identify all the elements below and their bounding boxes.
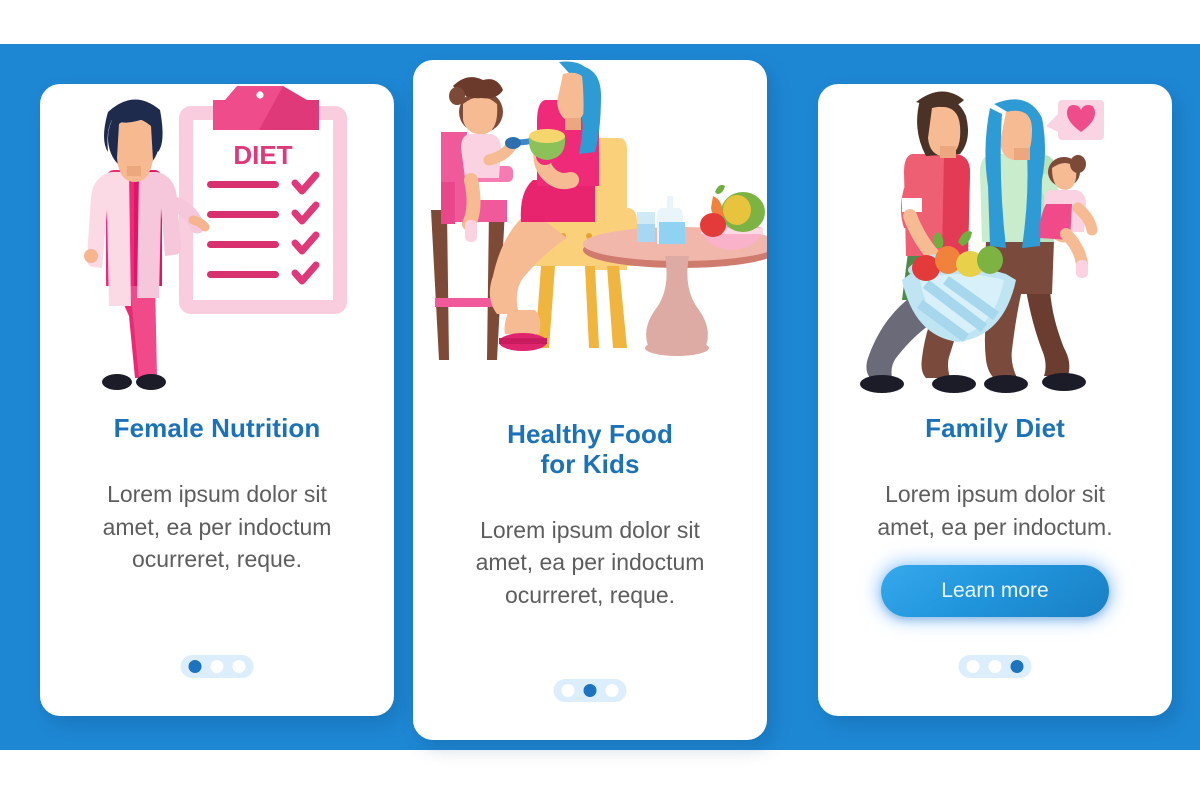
svg-text:DIET: DIET <box>233 140 292 170</box>
page-title: Female Nutrition <box>58 414 376 444</box>
page-title-line-1: Healthy Food <box>507 419 673 449</box>
pagination-dots[interactable] <box>959 655 1032 678</box>
onboarding-card-healthy-food-for-kids[interactable]: Healthy Food for Kids Lorem ipsum dolor … <box>413 60 767 740</box>
pagination-dot-3[interactable] <box>233 660 246 673</box>
pagination-dots[interactable] <box>181 655 254 678</box>
pagination-dot-1[interactable] <box>189 660 202 673</box>
illustration-female-doctor: DIET <box>40 84 394 414</box>
onboarding-card-family-diet[interactable]: Family Diet Lorem ipsum dolor sit amet, … <box>818 84 1172 716</box>
page-description: Lorem ipsum dolor sit amet, ea per indoc… <box>836 478 1154 543</box>
learn-more-button[interactable]: Learn more <box>881 565 1109 617</box>
pagination-dot-1[interactable] <box>562 684 575 697</box>
card-text-block: Healthy Food for Kids Lorem ipsum dolor … <box>413 420 767 612</box>
card-text-block: Family Diet Lorem ipsum dolor sit amet, … <box>818 414 1172 617</box>
page-title: Family Diet <box>836 414 1154 444</box>
page-title-line-2: for Kids <box>540 449 639 479</box>
page-title: Healthy Food for Kids <box>431 420 749 480</box>
page-description: Lorem ipsum dolor sit amet, ea per indoc… <box>58 478 376 576</box>
female-doctor-with-diet-clipboard-icon: DIET <box>67 84 367 414</box>
illustration-mother-feeding-baby <box>413 60 767 420</box>
onboarding-screens-mockup: DIET <box>0 0 1200 799</box>
family-walking-with-grocery-bag-icon <box>850 84 1140 414</box>
card-text-block: Female Nutrition Lorem ipsum dolor sit a… <box>40 414 394 576</box>
pagination-dot-2[interactable] <box>584 684 597 697</box>
mother-feeding-baby-at-table-icon <box>413 60 767 420</box>
onboarding-card-female-nutrition[interactable]: DIET <box>40 84 394 716</box>
illustration-family-walking <box>818 84 1172 414</box>
cards-container: DIET <box>0 0 1200 799</box>
page-description: Lorem ipsum dolor sit amet, ea per indoc… <box>431 514 749 612</box>
pagination-dots[interactable] <box>554 679 627 702</box>
pagination-dot-3[interactable] <box>606 684 619 697</box>
pagination-dot-2[interactable] <box>989 660 1002 673</box>
pagination-dot-3[interactable] <box>1011 660 1024 673</box>
pagination-dot-1[interactable] <box>967 660 980 673</box>
pagination-dot-2[interactable] <box>211 660 224 673</box>
